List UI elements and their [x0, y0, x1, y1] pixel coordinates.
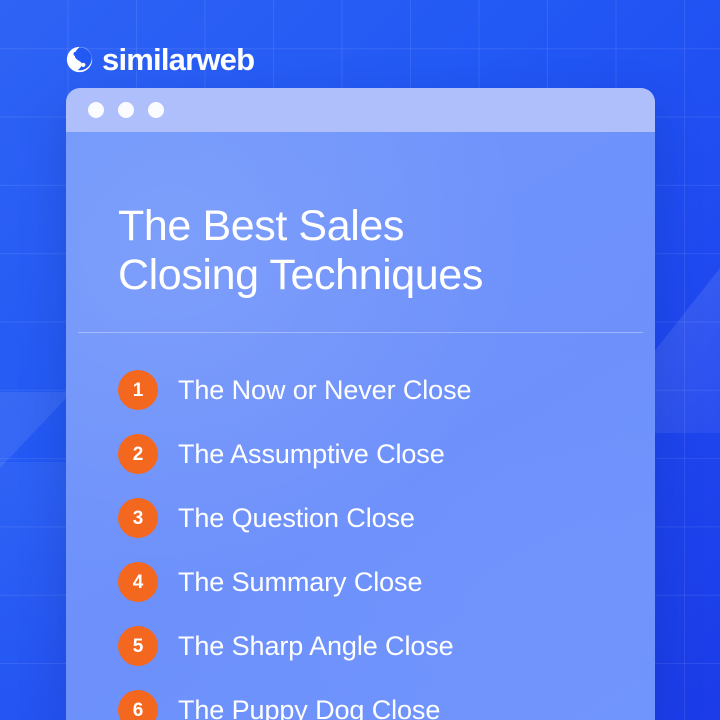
decorative-diagonal-left — [0, 392, 72, 468]
list-number-badge: 2 — [118, 434, 158, 474]
list-number-badge: 1 — [118, 370, 158, 410]
list-item: 2 The Assumptive Close — [118, 422, 655, 486]
logo-wordmark: similarweb — [102, 44, 254, 75]
list-item-label: The Question Close — [178, 503, 415, 534]
similarweb-logo: similarweb — [66, 40, 254, 78]
list-number-badge: 3 — [118, 498, 158, 538]
list-item-label: The Puppy Dog Close — [178, 695, 440, 720]
list-item: 4 The Summary Close — [118, 550, 655, 614]
list-number-badge: 6 — [118, 690, 158, 720]
list-item: 1 The Now or Never Close — [118, 358, 655, 422]
poster-canvas: similarweb The Best Sales Closing Techni… — [0, 0, 720, 720]
minimize-dot-icon[interactable] — [118, 102, 134, 118]
card-body: The Best Sales Closing Techniques 1 The … — [66, 132, 655, 720]
techniques-list: 1 The Now or Never Close 2 The Assumptiv… — [66, 358, 655, 720]
list-item-label: The Summary Close — [178, 567, 422, 598]
list-item-label: The Sharp Angle Close — [178, 631, 454, 662]
window-titlebar — [66, 88, 655, 132]
browser-window-card: The Best Sales Closing Techniques 1 The … — [66, 88, 655, 720]
close-dot-icon[interactable] — [88, 102, 104, 118]
list-item: 5 The Sharp Angle Close — [118, 614, 655, 678]
title-divider — [78, 332, 643, 333]
list-item-label: The Now or Never Close — [178, 375, 471, 406]
decorative-left-band — [0, 462, 68, 720]
list-number-badge: 4 — [118, 562, 158, 602]
maximize-dot-icon[interactable] — [148, 102, 164, 118]
list-item-label: The Assumptive Close — [178, 439, 445, 470]
list-item: 6 The Puppy Dog Close — [118, 678, 655, 720]
list-number-badge: 5 — [118, 626, 158, 666]
similarweb-swirl-icon — [66, 46, 93, 73]
list-item: 3 The Question Close — [118, 486, 655, 550]
page-title: The Best Sales Closing Techniques — [66, 132, 655, 299]
